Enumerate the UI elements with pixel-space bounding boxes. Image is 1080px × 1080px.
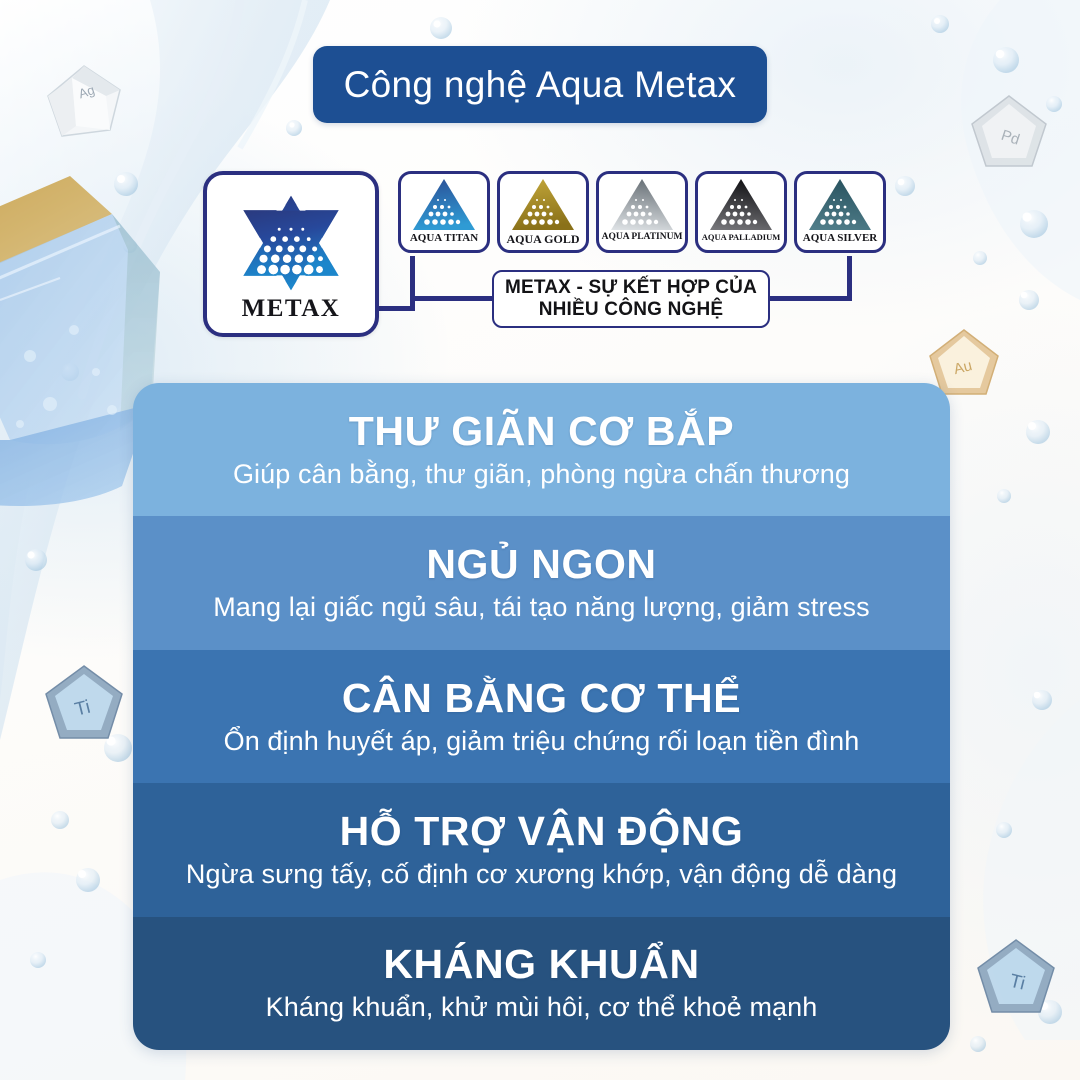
metax-star-icon xyxy=(232,187,350,299)
wire-silver-vertical xyxy=(847,256,852,301)
aqua-palladium-triangle-icon xyxy=(708,178,774,232)
metax-caption-line2: NHIỀU CÔNG NGHỆ xyxy=(539,299,724,320)
benefit-title: NGỦ NGON xyxy=(426,543,656,586)
infographic-canvas: Công nghệ Aqua Metax xyxy=(0,0,1080,1080)
badge-aqua-gold[interactable]: AQUA GOLD xyxy=(497,171,589,253)
benefits-card: THƯ GIÃN CƠ BẮP Giúp cân bằng, thư giãn,… xyxy=(133,383,950,1050)
benefit-band-ho-tro-van-dong: HỖ TRỢ VẬN ĐỘNG Ngừa sưng tấy, cố định c… xyxy=(133,783,950,916)
benefit-band-thu-gian-co-bap: THƯ GIÃN CƠ BẮP Giúp cân bằng, thư giãn,… xyxy=(133,383,950,516)
wire-titan-vertical xyxy=(410,256,415,311)
wire-caption-left xyxy=(410,296,500,301)
benefit-band-khang-khuan: KHÁNG KHUẨN Kháng khuẩn, khử mùi hôi, cơ… xyxy=(133,917,950,1050)
metax-caption-text: METAX - SỰ KẾT HỢP CỦA NHIỀU CÔNG NGHỆ xyxy=(505,277,757,321)
benefit-title: THƯ GIÃN CƠ BẮP xyxy=(349,410,735,453)
badge-label-aqua-platinum: AQUA PLATINUM xyxy=(602,233,683,243)
badge-aqua-palladium[interactable]: AQUA PALLADIUM xyxy=(695,171,787,253)
metax-caption-line1: METAX - SỰ KẾT HỢP CỦA xyxy=(505,277,757,298)
benefit-band-ngu-ngon: NGỦ NGON Mang lại giấc ngủ sâu, tái tạo … xyxy=(133,516,950,649)
badge-aqua-platinum[interactable]: AQUA PLATINUM xyxy=(596,171,688,253)
aqua-silver-triangle-icon xyxy=(807,178,873,232)
badge-aqua-silver[interactable]: AQUA SILVER xyxy=(794,171,886,253)
metax-caption-box: METAX - SỰ KẾT HỢP CỦA NHIỀU CÔNG NGHỆ xyxy=(492,270,770,328)
page-title-text: Công nghệ Aqua Metax xyxy=(344,64,737,106)
benefit-title: KHÁNG KHUẨN xyxy=(383,943,699,986)
benefit-subtitle: Giúp cân bằng, thư giãn, phòng ngừa chấn… xyxy=(233,460,850,490)
benefit-subtitle: Kháng khuẩn, khử mùi hôi, cơ thể khoẻ mạ… xyxy=(266,993,818,1023)
benefit-title: HỖ TRỢ VẬN ĐỘNG xyxy=(340,810,744,853)
page-title: Công nghệ Aqua Metax xyxy=(313,46,767,123)
benefit-band-can-bang-co-the: CÂN BẰNG CƠ THỂ Ổn định huyết áp, giảm t… xyxy=(133,650,950,783)
badge-label-aqua-titan: AQUA TITAN xyxy=(410,233,478,244)
aqua-platinum-triangle-icon xyxy=(609,178,675,232)
benefit-subtitle: Mang lại giấc ngủ sâu, tái tạo năng lượn… xyxy=(213,593,870,623)
benefit-subtitle: Ổn định huyết áp, giảm triệu chứng rối l… xyxy=(224,727,860,757)
metax-wordmark: METAX xyxy=(242,295,341,323)
aqua-titan-triangle-icon xyxy=(411,178,477,232)
badge-label-aqua-palladium: AQUA PALLADIUM xyxy=(702,233,780,242)
benefit-title: CÂN BẰNG CƠ THỂ xyxy=(342,677,741,720)
aqua-gold-triangle-icon xyxy=(510,178,576,232)
wire-caption-right xyxy=(762,296,852,301)
badge-label-aqua-gold: AQUA GOLD xyxy=(506,233,579,245)
wire-metax-horizontal xyxy=(375,306,415,311)
badge-aqua-titan[interactable]: AQUA TITAN xyxy=(398,171,490,253)
badge-label-aqua-silver: AQUA SILVER xyxy=(803,233,877,244)
benefit-subtitle: Ngừa sưng tấy, cố định cơ xương khớp, vậ… xyxy=(186,860,897,890)
metax-diagram: METAX xyxy=(0,160,1080,380)
metax-logo-card: METAX xyxy=(203,171,379,337)
